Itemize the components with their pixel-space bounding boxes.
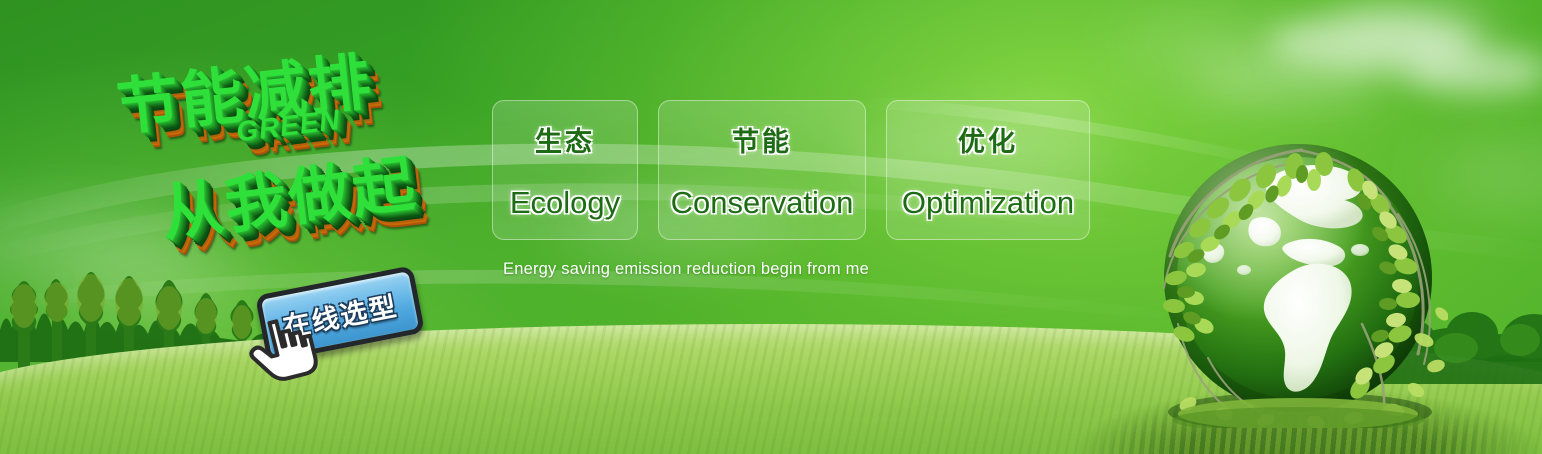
- leafy-earth-globe: [1148, 128, 1448, 428]
- feature-card-en-label: Conservation: [671, 185, 854, 221]
- feature-card-conservation[interactable]: 节能 Conservation: [658, 100, 866, 240]
- cloud-icon: [1268, 14, 1478, 72]
- feature-card-list: 生态 Ecology 节能 Conservation 优化 Optimizati…: [492, 100, 1090, 240]
- feature-card-cn-label: 生态: [535, 120, 595, 159]
- feature-card-ecology[interactable]: 生态 Ecology: [492, 100, 638, 240]
- cloud-icon: [1402, 48, 1542, 94]
- online-selection-cta[interactable]: 在线选型: [246, 272, 426, 382]
- eco-hero-banner: 节能减排 GREEN 从我做起 在线选型 生态 Ecology 节能 Conse…: [0, 0, 1542, 454]
- cloud-icon: [1190, 60, 1390, 100]
- feature-card-cn-label: 优化: [958, 120, 1018, 159]
- feature-card-en-label: Optimization: [902, 185, 1074, 221]
- hand-pointer-icon: [246, 312, 324, 384]
- headline-3d: 节能减排 GREEN 从我做起: [100, 38, 480, 268]
- headline-line-2: 从我做起: [155, 133, 420, 254]
- feature-card-en-label: Ecology: [510, 185, 620, 221]
- feature-card-optimization[interactable]: 优化 Optimization: [886, 100, 1090, 240]
- cloud-icon: [1120, 20, 1300, 72]
- cloud-icon: [1330, 2, 1500, 46]
- banner-tagline: Energy saving emission reduction begin f…: [503, 260, 869, 279]
- feature-card-cn-label: 节能: [732, 120, 792, 159]
